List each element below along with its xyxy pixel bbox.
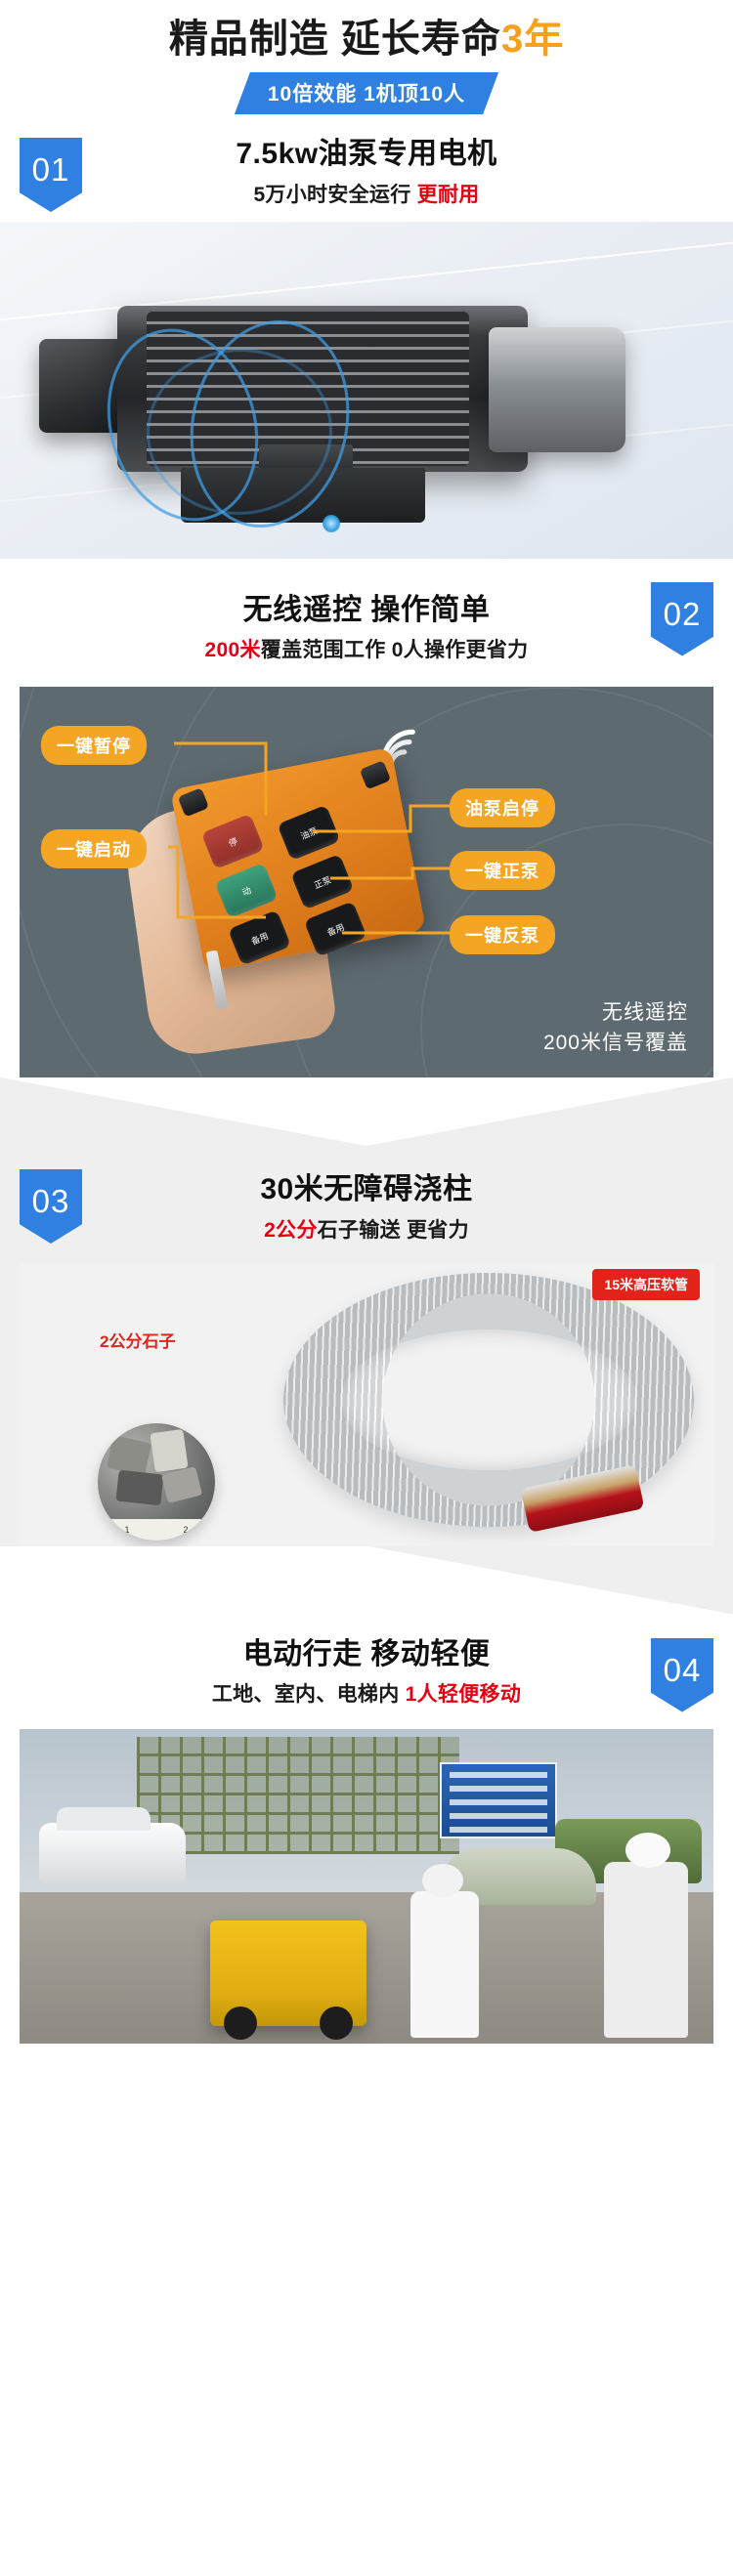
caption-line-1: 无线遥控	[543, 998, 688, 1028]
motor-end-cap	[489, 327, 625, 452]
indicator-light	[323, 515, 340, 532]
section-04-titles: 电动行走 移动轻便 工地、室内、电梯内 1人轻便移动	[0, 1636, 733, 1709]
worker	[410, 1891, 479, 2038]
tag-hose-length: 15米高压软管	[592, 1269, 700, 1300]
worker	[604, 1862, 688, 2038]
section-03: 03 30米无障碍浇柱 2公分石子输送 更省力 15米高压软管 2公分石子 1	[0, 1146, 733, 1546]
header-banner-wrap: 10倍效能 1机顶10人	[0, 72, 733, 114]
section-03-head: 03 30米无障碍浇柱 2公分石子输送 更省力	[0, 1146, 733, 1257]
section-02: 02 无线遥控 操作简单 200米覆盖范围工作 0人操作更省力	[0, 559, 733, 1078]
ruler-tick: 2	[183, 1525, 188, 1535]
section-01-sub-highlight: 更耐用	[417, 184, 480, 206]
tag-stone-size: 2公分石子	[100, 1328, 175, 1352]
jobsite-photo	[20, 1729, 713, 2044]
section-04-sub-plain: 工地、室内、电梯内	[212, 1683, 406, 1706]
hose-photo: 15米高压软管 2公分石子 1 2	[20, 1263, 713, 1546]
section-02-subtitle: 200米覆盖范围工作 0人操作更省力	[0, 634, 733, 663]
section-02-titles: 无线遥控 操作简单 200米覆盖范围工作 0人操作更省力	[0, 592, 733, 664]
section-01-sub-plain: 5万小时安全运行	[253, 184, 416, 206]
page-title-main: 精品制造 延长寿命	[169, 18, 501, 61]
site-notice-board	[440, 1762, 557, 1838]
remote-control-photo: 停 油泵 动 正泵 备用 备用 一键暂停 一键启动 油泵启停 一键正泵 一键反泵	[20, 687, 713, 1077]
section-03-titles: 30米无障碍浇柱 2公分石子输送 更省力	[0, 1171, 733, 1244]
stone-ruler: 1 2	[98, 1519, 215, 1541]
product-detail-page: 精品制造 延长寿命3年 10倍效能 1机顶10人 01 7.5kw油泵专用电机 …	[0, 0, 733, 2044]
concrete-pump-machine	[210, 1921, 366, 2026]
section-divider-chevron-flipped	[0, 1546, 733, 1615]
callout-pause: 一键暂停	[41, 726, 147, 765]
section-divider-chevron	[0, 1077, 733, 1146]
page-header: 精品制造 延长寿命3年 10倍效能 1机顶10人	[0, 0, 733, 114]
white-van	[39, 1823, 186, 1883]
callout-pump-reverse: 一键反泵	[450, 915, 555, 954]
section-01: 01 7.5kw油泵专用电机 5万小时安全运行 更耐用	[0, 114, 733, 559]
section-01-subtitle: 5万小时安全运行 更耐用	[0, 179, 733, 208]
ruler-tick: 1	[124, 1525, 129, 1535]
safety-helmet	[422, 1864, 463, 1897]
section-04-head: 04 电动行走 移动轻便 工地、室内、电梯内 1人轻便移动	[0, 1615, 733, 1722]
safety-helmet	[625, 1833, 670, 1868]
section-03-sub-highlight: 2公分	[264, 1219, 318, 1242]
motor-photo	[0, 222, 733, 559]
section-02-sub-highlight: 200米	[205, 639, 261, 661]
section-04: 04 电动行走 移动轻便 工地、室内、电梯内 1人轻便移动	[0, 1615, 733, 2045]
page-title-years: 3年	[501, 18, 564, 61]
section-02-sub-plain: 覆盖范围工作 0人操作更省力	[261, 639, 529, 661]
section-04-sub-highlight: 1人轻便移动	[406, 1683, 521, 1706]
section-02-title: 无线遥控 操作简单	[0, 592, 733, 629]
section-01-head: 01 7.5kw油泵专用电机 5万小时安全运行 更耐用	[0, 114, 733, 222]
caption-line-2: 200米信号覆盖	[543, 1029, 688, 1058]
section-04-title: 电动行走 移动轻便	[0, 1636, 733, 1673]
stone-closeup: 1 2	[98, 1423, 215, 1541]
section-04-subtitle: 工地、室内、电梯内 1人轻便移动	[0, 1678, 733, 1708]
section-01-title: 7.5kw油泵专用电机	[0, 136, 733, 173]
header-banner: 10倍效能 1机顶10人	[235, 72, 498, 114]
section-03-title: 30米无障碍浇柱	[0, 1171, 733, 1208]
section-03-subtitle: 2公分石子输送 更省力	[0, 1214, 733, 1244]
section-03-sub-plain: 石子输送 更省力	[318, 1219, 469, 1242]
photo-caption: 无线遥控 200米信号覆盖	[543, 998, 688, 1058]
page-title: 精品制造 延长寿命3年	[0, 16, 733, 63]
callout-pump-forward: 一键正泵	[450, 851, 555, 890]
callout-pump-toggle: 油泵启停	[450, 788, 555, 827]
section-01-titles: 7.5kw油泵专用电机 5万小时安全运行 更耐用	[0, 136, 733, 208]
callout-start: 一键启动	[41, 829, 147, 868]
section-02-head: 02 无线遥控 操作简单 200米覆盖范围工作 0人操作更省力	[0, 559, 733, 678]
